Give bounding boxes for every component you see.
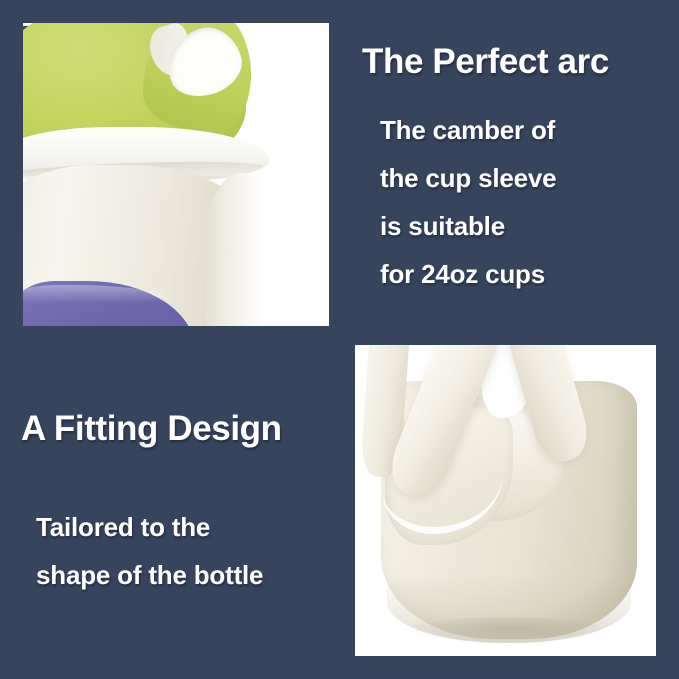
photo-content-lid — [23, 23, 329, 326]
body-text-fitting: Tailored to the shape of the bottle — [36, 503, 336, 599]
product-photo-lid-closeup — [23, 23, 329, 326]
cup-sleeve-base-shadow-shape — [407, 617, 607, 643]
body-line: shape of the bottle — [36, 551, 336, 599]
body-line: The camber of — [380, 106, 670, 154]
body-line: is suitable — [380, 202, 670, 250]
product-photo-sleeve-closeup — [355, 345, 656, 656]
headline-fitting-design: A Fitting Design — [21, 409, 282, 449]
body-line: the cup sleeve — [380, 154, 670, 202]
product-feature-collage: The Perfect arc The camber of the cup sl… — [0, 0, 679, 679]
photo-content-sleeve — [355, 345, 656, 656]
body-line: Tailored to the — [36, 503, 336, 551]
body-text-arc: The camber of the cup sleeve is suitable… — [380, 106, 670, 298]
bottle-body-highlight-shape — [205, 173, 263, 326]
body-line: for 24oz cups — [380, 250, 670, 298]
headline-perfect-arc: The Perfect arc — [362, 42, 609, 82]
